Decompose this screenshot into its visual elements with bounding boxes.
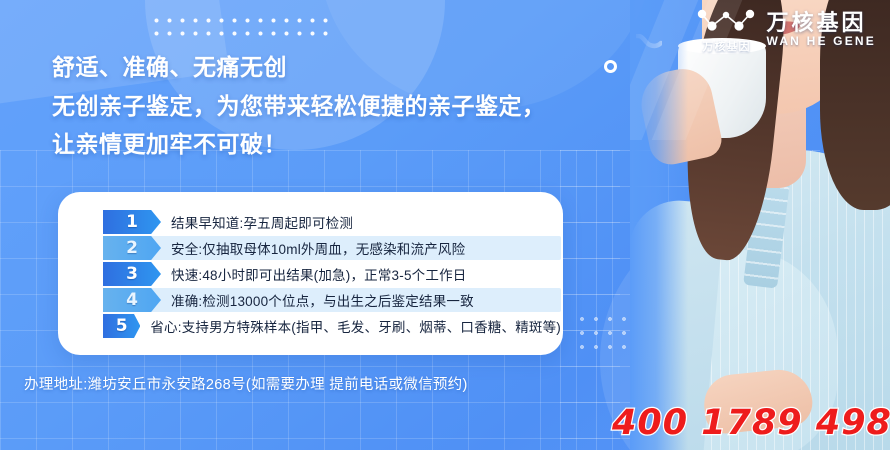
- molecule-network-icon: [696, 6, 756, 36]
- feature-text-4: 准确:检测13000个位点，与出生之后鉴定结果一致: [171, 290, 474, 310]
- feature-text-3: 快速:48小时即可出结果(加急)，正常3-5个工作日: [171, 264, 466, 284]
- logo-name-en: WAN HE GENE: [766, 34, 876, 48]
- feature-text-5: 省心:支持男方特殊样本(指甲、毛发、牙刷、烟蒂、口香糖、精斑等): [150, 316, 561, 336]
- photo-left-fade: [630, 0, 688, 450]
- pregnant-woman-photo: [630, 0, 890, 450]
- feature-number-3: 3: [103, 262, 161, 286]
- feature-number-5: 5: [103, 314, 140, 338]
- feature-text-2: 安全:仅抽取母体10ml外周血，无感染和流产风险: [171, 238, 465, 258]
- logo-mark-label: 万核基因: [702, 38, 750, 54]
- features-panel: 1 结果早知道:孕五周起即可检测 2 安全:仅抽取母体10ml外周血，无感染和流…: [58, 192, 563, 355]
- logo-name-cn: 万核基因: [766, 11, 876, 34]
- logo-wordmark: 万核基因 WAN HE GENE: [766, 11, 876, 48]
- office-address: 办理地址:潍坊安丘市永安路268号(如需要办理 提前电话或微信预约): [24, 373, 468, 394]
- decorative-ring-icon: [604, 60, 617, 73]
- feature-text-1: 结果早知道:孕五周起即可检测: [171, 212, 353, 232]
- brand-logo[interactable]: 万核基因 万核基因 WAN HE GENE: [696, 6, 876, 54]
- dot-pattern-top: [150, 14, 332, 44]
- headline-line-2: 无创亲子鉴定，为您带来轻松便捷的亲子鉴定，: [52, 87, 546, 126]
- hotline-phone-number[interactable]: 400 1789 498: [612, 403, 890, 443]
- feature-number-2: 2: [103, 236, 161, 260]
- headline-block: 舒适、准确、无痛无创 无创亲子鉴定，为您带来轻松便捷的亲子鉴定， 让亲情更加牢不…: [52, 48, 546, 164]
- feature-row-2: 2 安全:仅抽取母体10ml外周血，无感染和流产风险: [103, 236, 561, 260]
- feature-row-4: 4 准确:检测13000个位点，与出生之后鉴定结果一致: [103, 288, 561, 312]
- feature-number-4: 4: [103, 288, 161, 312]
- promo-banner: 万核基因 万核基因 WAN HE GENE 舒适、准确、无痛无创 无创亲子鉴定，…: [0, 0, 890, 450]
- features-list: 1 结果早知道:孕五周起即可检测 2 安全:仅抽取母体10ml外周血，无感染和流…: [103, 210, 561, 340]
- feature-row-3: 3 快速:48小时即可出结果(加急)，正常3-5个工作日: [103, 262, 561, 286]
- feature-row-5: 5 省心:支持男方特殊样本(指甲、毛发、牙刷、烟蒂、口香糖、精斑等): [103, 314, 561, 338]
- feature-number-1: 1: [103, 210, 161, 234]
- feature-row-1: 1 结果早知道:孕五周起即可检测: [103, 210, 561, 234]
- headline-line-3: 让亲情更加牢不可破！: [52, 125, 546, 164]
- headline-line-1: 舒适、准确、无痛无创: [52, 48, 546, 87]
- logo-mark: 万核基因: [696, 6, 756, 54]
